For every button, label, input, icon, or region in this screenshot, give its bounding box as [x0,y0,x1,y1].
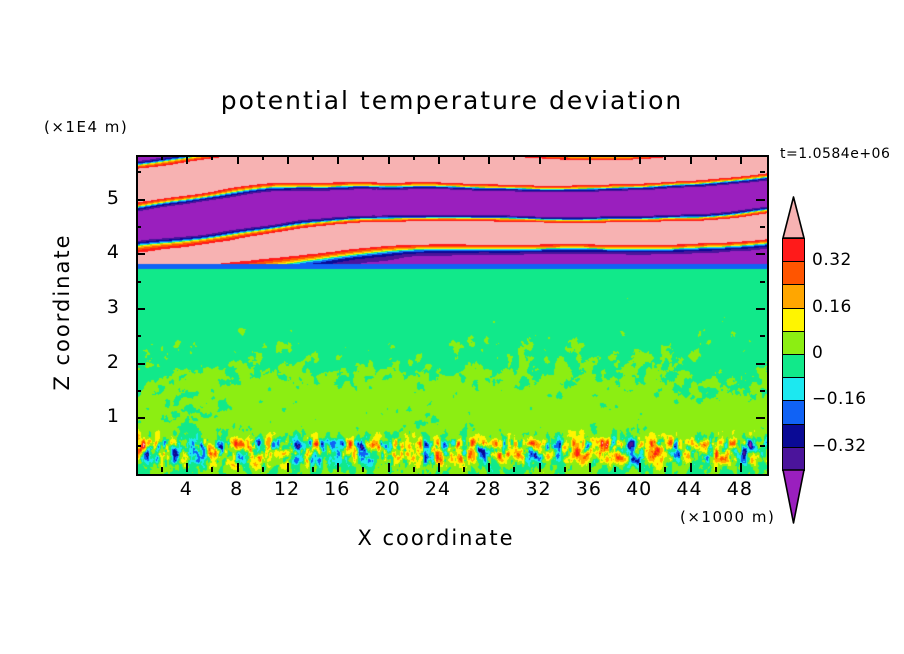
colorbar-label: 0.32 [812,250,852,270]
tick-mark [715,155,717,160]
tick-mark [337,155,339,164]
tick-mark [760,390,765,392]
tick-mark [614,467,616,472]
tick-mark [136,171,141,173]
y-tick-label: 4 [86,241,120,263]
tick-mark [756,199,765,201]
tick-mark [639,155,641,164]
tick-mark [463,467,465,472]
tick-mark [690,463,692,472]
tick-mark [715,467,717,472]
tick-mark [136,226,141,228]
y-tick-label: 2 [86,351,120,373]
tick-mark [564,155,566,160]
colorbar-label: 0 [812,343,823,363]
tick-mark [513,155,515,160]
tick-mark [413,155,415,160]
colorbar-segment [782,377,805,402]
tick-mark [136,199,145,201]
tick-mark [211,155,213,160]
tick-mark [488,155,490,164]
y-tick-label: 1 [86,405,120,427]
tick-mark [136,390,141,392]
tick-mark [760,226,765,228]
colorbar-segment [782,331,805,356]
tick-mark [136,445,141,447]
tick-mark [756,417,765,419]
tick-mark [760,281,765,283]
tick-mark [690,155,692,164]
tick-mark [438,155,440,164]
tick-mark [589,155,591,164]
tick-mark [438,463,440,472]
x-tick-label: 48 [710,478,770,500]
tick-mark [262,155,264,160]
tick-mark [664,467,666,472]
y-axis-label: Z coordinate [50,212,74,412]
tick-mark [312,467,314,472]
tick-mark [237,155,239,164]
tick-mark [186,463,188,472]
tick-mark [362,467,364,472]
tick-mark [760,445,765,447]
tick-mark [756,363,765,365]
tick-mark [136,308,145,310]
tick-mark [136,417,145,419]
tick-mark [756,308,765,310]
colorbar-segment [782,400,805,425]
tick-mark [639,463,641,472]
tick-mark [136,253,145,255]
y-tick-label: 5 [86,187,120,209]
tick-mark [740,155,742,164]
tick-mark [664,155,666,160]
tick-mark [186,155,188,164]
tick-mark [388,463,390,472]
tick-mark [740,463,742,472]
contour-plot-area [136,155,769,476]
tick-mark [287,463,289,472]
colorbar-label: −0.16 [812,389,867,409]
tick-mark [539,155,541,164]
contour-field [138,157,767,474]
tick-mark [287,155,289,164]
colorbar-segment [782,424,805,449]
tick-mark [211,467,213,472]
tick-mark [614,155,616,160]
colorbar-segment [782,238,805,263]
tick-mark [136,281,141,283]
tick-mark [362,155,364,160]
colorbar [782,238,805,470]
tick-mark [388,155,390,164]
y-tick-label: 3 [86,296,120,318]
tick-mark [136,363,145,365]
page-title: potential temperature deviation [0,86,904,115]
tick-mark [564,467,566,472]
x-axis-label: X coordinate [286,526,586,550]
colorbar-under-arrow [782,469,805,524]
colorbar-label: 0.16 [812,297,852,317]
tick-mark [488,463,490,472]
colorbar-segment [782,284,805,309]
tick-mark [161,155,163,160]
tick-mark [337,463,339,472]
tick-mark [513,467,515,472]
colorbar-segment [782,447,805,472]
time-annotation: t=1.0584e+06 [780,146,890,162]
colorbar-label: −0.32 [812,436,867,456]
y-axis-unit-label: (×1E4 m) [44,118,128,136]
tick-mark [312,155,314,160]
tick-mark [760,335,765,337]
tick-mark [589,463,591,472]
tick-mark [161,467,163,472]
tick-mark [756,253,765,255]
tick-mark [539,463,541,472]
tick-mark [413,467,415,472]
tick-mark [262,467,264,472]
tick-mark [136,335,141,337]
colorbar-segment [782,308,805,333]
colorbar-segment [782,354,805,379]
tick-mark [463,155,465,160]
x-axis-unit-label: (×1000 m) [680,508,775,526]
colorbar-over-arrow [782,196,805,239]
tick-mark [760,171,765,173]
figure-canvas: potential temperature deviation (×1E4 m)… [0,0,904,654]
tick-mark [237,463,239,472]
colorbar-segment [782,261,805,286]
